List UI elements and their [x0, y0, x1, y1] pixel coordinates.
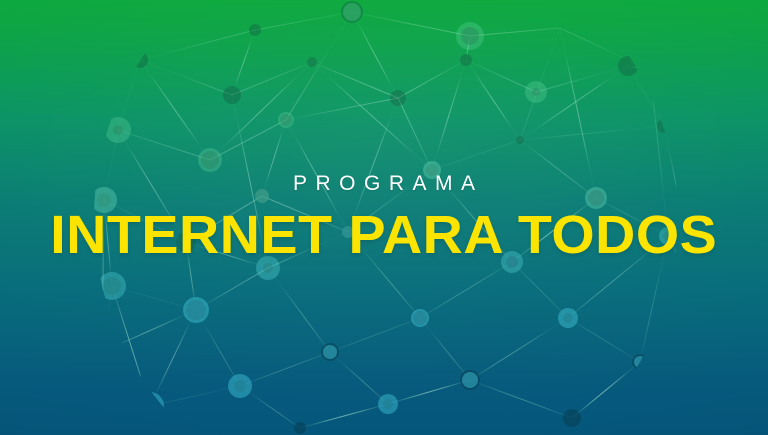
program-eyebrow: PROGRAMA	[284, 173, 483, 194]
banner-root: PROGRAMA INTERNET PARA TODOS	[0, 0, 768, 435]
program-headline: INTERNET PARA TODOS	[51, 208, 718, 262]
title-lockup: PROGRAMA INTERNET PARA TODOS	[0, 0, 768, 435]
